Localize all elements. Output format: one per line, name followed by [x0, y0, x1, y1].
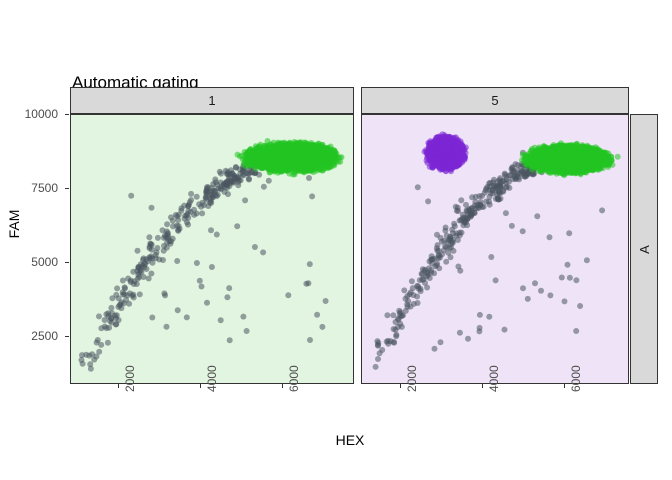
- y-tick-mark-7500: [65, 188, 69, 189]
- scatter-layer-facet-1: [71, 115, 353, 383]
- x-tick-label-p5-4000: 4000: [487, 365, 501, 392]
- scatter-series-negative-rain-facet-5: [373, 150, 605, 370]
- facet-strip-1: 1: [70, 87, 354, 114]
- scatter-series-positive-purple-cluster-facet-5: [422, 131, 469, 174]
- facet-strip-label-5: 5: [491, 93, 498, 108]
- y-tick-label-5000: 5000: [12, 255, 58, 269]
- x-tick-label-p1-2000: 2000: [123, 365, 137, 392]
- y-axis-label: FAM: [6, 194, 22, 254]
- y-tick-mark-10000: [65, 114, 69, 115]
- x-tick-mark-p5-2000: [400, 384, 401, 388]
- scatter-layer-facet-5: [362, 115, 628, 383]
- facet-strip-A: A: [630, 114, 658, 384]
- ggplot-figure: Automatic gating works with PNPP experim…: [0, 0, 672, 480]
- y-tick-label-10000: 10000: [12, 107, 58, 121]
- x-tick-label-p1-4000: 4000: [205, 365, 219, 392]
- x-tick-mark-p1-6000: [282, 384, 283, 388]
- y-tick-label-7500: 7500: [12, 181, 58, 195]
- facet-strip-label-1: 1: [208, 93, 215, 108]
- y-tick-mark-5000: [65, 262, 69, 263]
- y-tick-mark-2500: [65, 336, 69, 337]
- x-axis-label: HEX: [320, 432, 380, 448]
- x-tick-mark-p5-4000: [482, 384, 483, 388]
- x-tick-label-p5-6000: 6000: [569, 365, 583, 392]
- x-tick-label-p5-2000: 2000: [405, 365, 419, 392]
- x-tick-mark-p5-6000: [564, 384, 565, 388]
- y-tick-label-2500: 2500: [12, 329, 58, 343]
- x-tick-mark-p1-2000: [118, 384, 119, 388]
- facet-panel-5: [361, 114, 629, 384]
- x-tick-mark-p1-4000: [200, 384, 201, 388]
- facet-panel-1: [70, 114, 354, 384]
- scatter-series-negative-rain-facet-1: [78, 156, 328, 372]
- facet-strip-label-A: A: [636, 245, 651, 254]
- facet-strip-5: 5: [361, 87, 629, 114]
- x-tick-label-p1-6000: 6000: [287, 365, 301, 392]
